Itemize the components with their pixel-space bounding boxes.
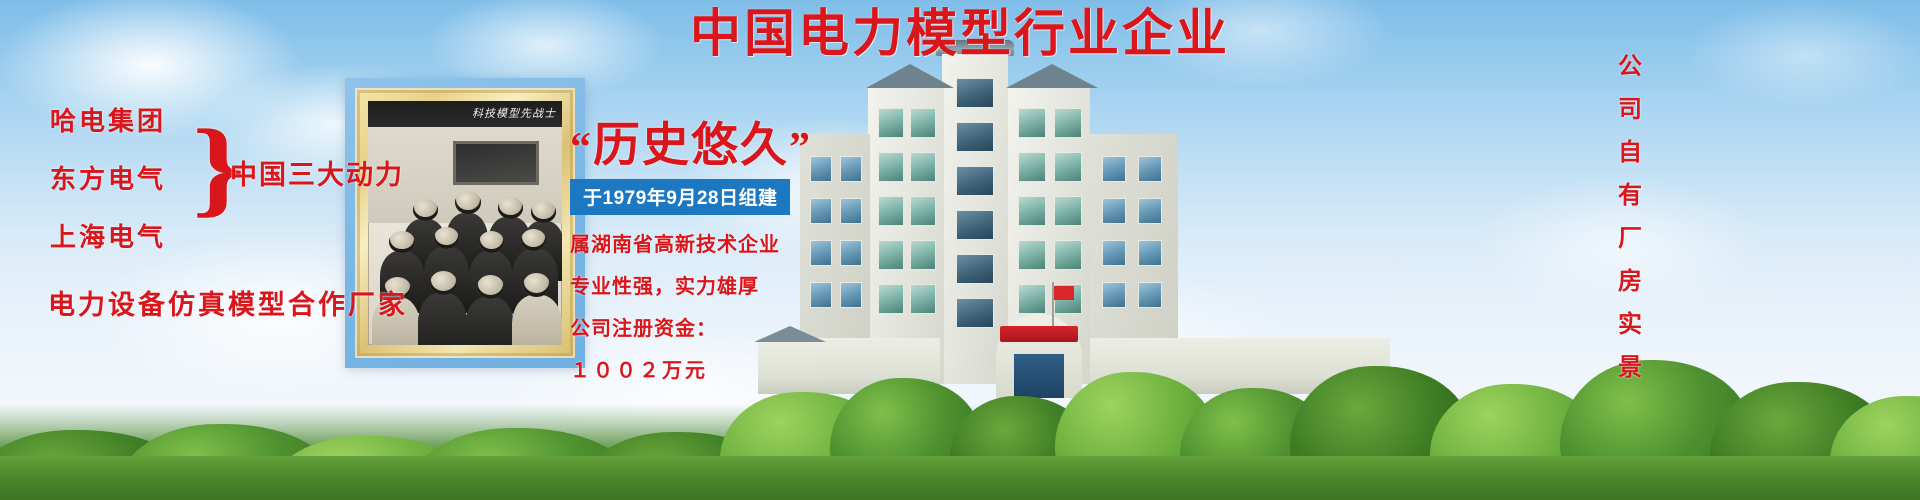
- vintage-group-photo: 科技模型先战士 1978.6: [345, 78, 585, 368]
- copy-line-3: 公司注册资金：: [570, 312, 870, 341]
- quote-text: 历史悠久: [593, 118, 789, 171]
- quote-open: “: [570, 125, 593, 171]
- banner-stage: 中国电力模型行业企业 哈电集团 东方电气 上海电气 } 中国三大动力 电力设备仿…: [0, 0, 1920, 500]
- group-label: 中国三大动力: [230, 153, 404, 192]
- quote-heading: “历史悠久”: [570, 120, 870, 170]
- flag: [1054, 286, 1074, 300]
- vertical-char-6: 房: [1618, 270, 1642, 294]
- vertical-char-4: 有: [1618, 184, 1642, 208]
- vertical-char-5: 厂: [1618, 227, 1642, 251]
- grass-strip: [0, 456, 1920, 500]
- founded-badge: 于1979年9月28日组建: [570, 179, 790, 215]
- copy-line-2: 专业性强，实力雄厚: [570, 270, 870, 299]
- page-title: 中国电力模型行业企业: [0, 8, 1920, 59]
- photo-blackboard: [453, 141, 538, 185]
- copy-line-4: １００２万元: [570, 354, 870, 383]
- company-item-2: 东方电气: [50, 166, 200, 192]
- partner-label: 电力设备仿真模型合作厂家: [48, 283, 408, 322]
- center-copy-block: “历史悠久” 于1979年9月28日组建 属湖南省高新技术企业 专业性强，实力雄…: [570, 120, 870, 383]
- copy-line-1: 属湖南省高新技术企业: [570, 228, 870, 257]
- photo-banner-text: 科技模型先战士: [472, 105, 556, 121]
- quote-close: ”: [789, 125, 812, 171]
- vertical-char-2: 司: [1618, 98, 1642, 122]
- vertical-char-8: 景: [1618, 356, 1642, 380]
- vertical-char-1: 公: [1618, 55, 1642, 79]
- company-item-3: 上海电气: [50, 224, 200, 250]
- gate-sign: [1000, 326, 1078, 342]
- company-list: 哈电集团 东方电气 上海电气: [50, 108, 200, 282]
- vertical-char-7: 实: [1618, 313, 1642, 337]
- company-item-1: 哈电集团: [50, 108, 200, 134]
- vertical-char-3: 自: [1618, 141, 1642, 165]
- right-vertical-text: 公 司 自 有 厂 房 实 景: [1618, 55, 1642, 399]
- photo-banner: 科技模型先战士: [368, 101, 562, 127]
